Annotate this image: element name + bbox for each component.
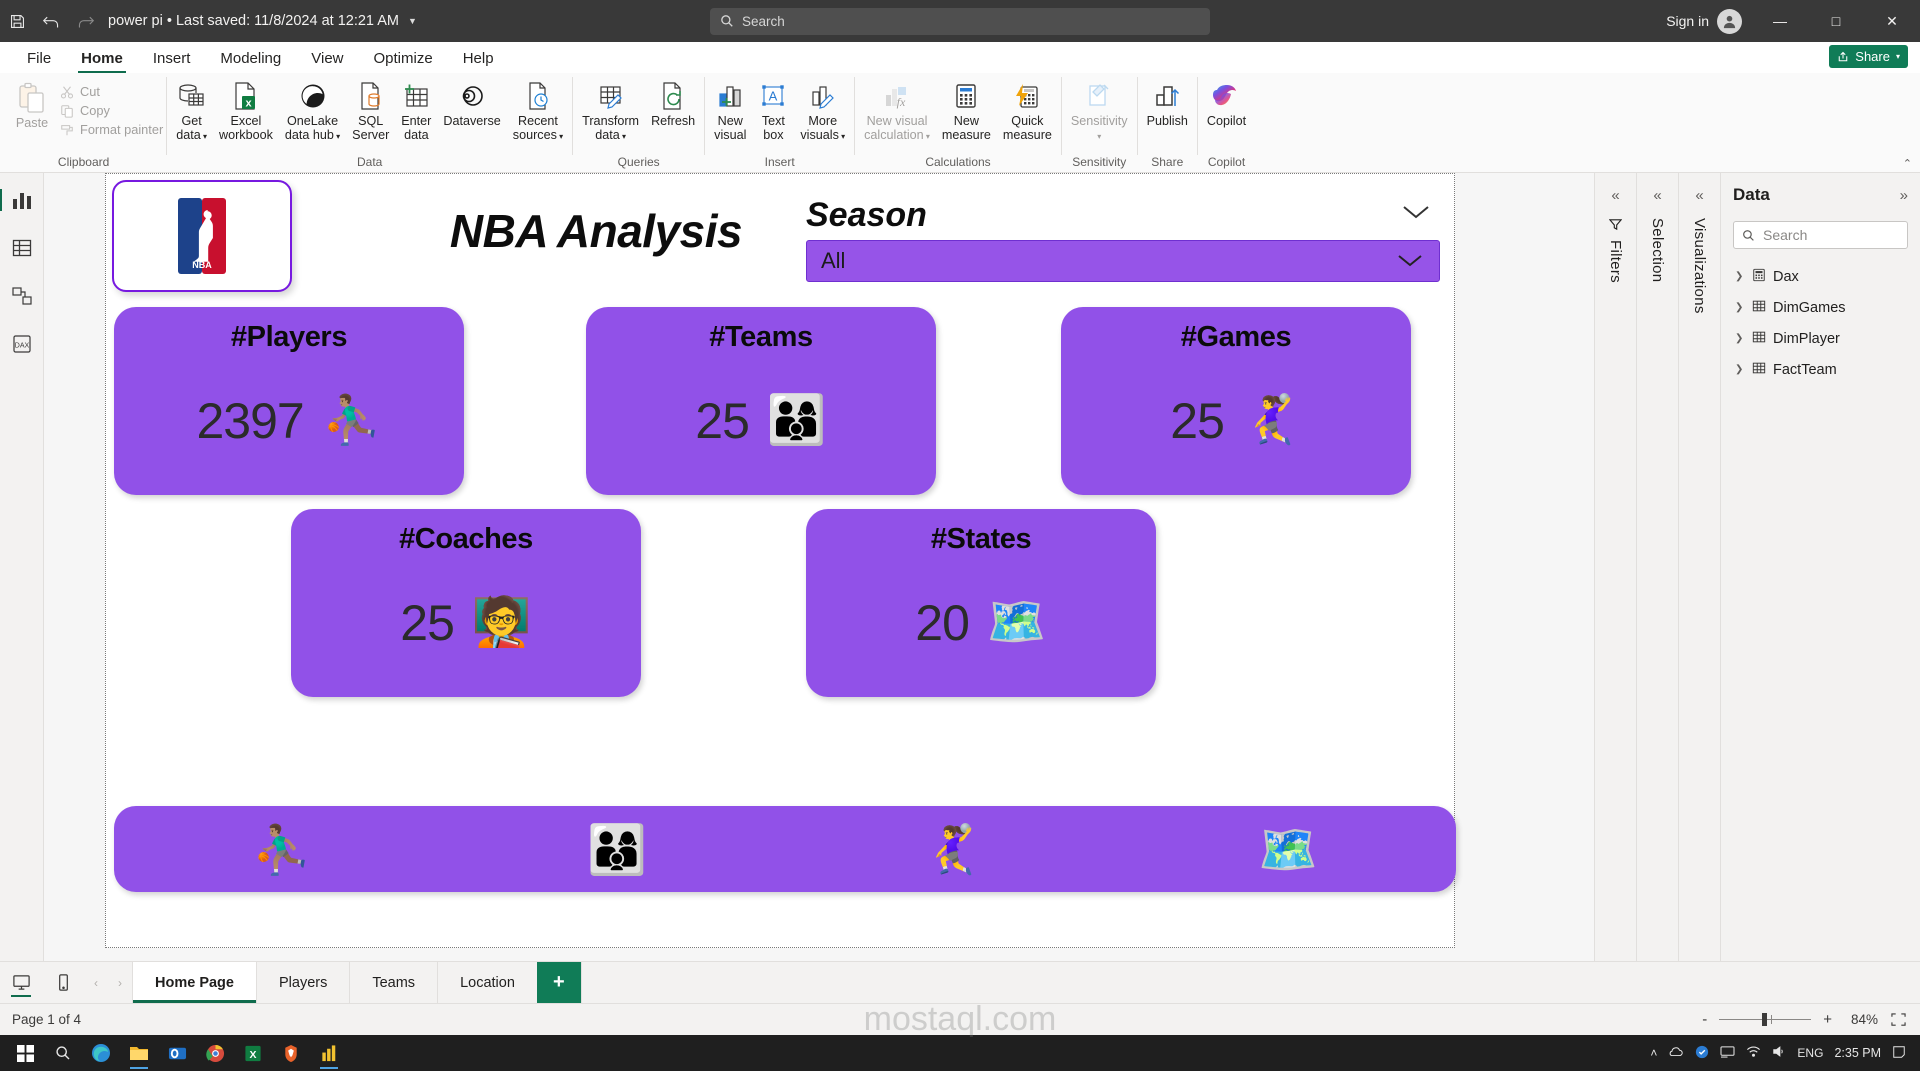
- ribbon-tab-strip: File Home Insert Modeling View Optimize …: [0, 42, 1920, 73]
- mobile-layout-icon[interactable]: [42, 962, 84, 1003]
- more-visuals-icon: [809, 79, 837, 112]
- chevron-right-icon[interactable]: ❯: [1735, 333, 1745, 344]
- excel-workbook-button[interactable]: x Excel workbook: [213, 77, 279, 144]
- sql-server-button[interactable]: SQL Server: [346, 77, 395, 144]
- publish-button[interactable]: Publish: [1141, 77, 1194, 131]
- maximize-button[interactable]: □: [1808, 0, 1864, 42]
- text-box-button[interactable]: A Text box: [752, 77, 794, 144]
- file-explorer-icon[interactable]: [120, 1035, 158, 1071]
- nba-logo-icon: NBA: [178, 198, 226, 274]
- expand-selection-icon[interactable]: «: [1653, 187, 1661, 204]
- data-table-factteam[interactable]: ❯ FactTeam: [1733, 354, 1908, 385]
- group-label-insert: Insert: [765, 154, 795, 172]
- selection-pane-collapsed[interactable]: « Selection: [1636, 173, 1678, 961]
- slicer-header-chevron-icon[interactable]: [1396, 198, 1436, 226]
- onelake-icon: [299, 79, 327, 112]
- basketball-player-emoji[interactable]: ⛹🏽‍♂️: [252, 821, 312, 878]
- group-label-share: Share: [1151, 154, 1183, 172]
- refresh-button[interactable]: Refresh: [645, 77, 701, 131]
- edge-icon[interactable]: [82, 1035, 120, 1071]
- page-tab-bar: ‹ › Home Page Players Teams Location +: [0, 961, 1920, 1003]
- kpi-value-coaches: 25: [400, 594, 454, 652]
- quick-measure-icon: [1013, 79, 1041, 112]
- model-view-icon[interactable]: [7, 281, 37, 311]
- right-pane-group: « Filters « Selection « Visualizations D…: [1594, 173, 1920, 961]
- share-button[interactable]: Share ▾: [1829, 45, 1908, 68]
- chevron-down-icon[interactable]: ▾: [839, 132, 845, 141]
- selection-pane-label: Selection: [1649, 218, 1666, 282]
- paste-button[interactable]: Paste: [4, 81, 60, 137]
- excel-icon[interactable]: X: [234, 1035, 272, 1071]
- filters-pane-collapsed[interactable]: « Filters: [1594, 173, 1636, 961]
- ribbon-separator: [1137, 77, 1138, 155]
- chevron-right-icon[interactable]: ❯: [1735, 302, 1745, 313]
- zoom-slider[interactable]: [1719, 1019, 1811, 1020]
- next-page-arrow[interactable]: ›: [108, 962, 132, 1003]
- filters-pane-label: Filters: [1607, 240, 1624, 283]
- fit-to-page-icon[interactable]: [1890, 1012, 1908, 1028]
- quick-measure-l2: measure: [1003, 128, 1052, 142]
- copy-button[interactable]: Copy: [60, 103, 163, 118]
- dataverse-icon: [458, 79, 486, 112]
- ribbon-body: Paste Cut Copy: [0, 73, 1920, 173]
- data-table-label: FactTeam: [1773, 362, 1837, 378]
- outlook-icon[interactable]: [158, 1035, 196, 1071]
- chevron-down-icon[interactable]: ▾: [334, 132, 340, 141]
- text-box-icon: A: [759, 79, 787, 112]
- ribbon-separator: [166, 77, 167, 155]
- new-visual-calc-l2: calculation: [864, 128, 924, 142]
- filter-icon: [1609, 218, 1622, 234]
- quick-measure-button[interactable]: Quick measure: [997, 77, 1058, 144]
- team-people-emoji: 👨‍👩‍👦: [767, 397, 827, 445]
- report-page-canvas[interactable]: NBA NBA Analysis Season All: [105, 173, 1455, 948]
- bottom-navigation-banner[interactable]: ⛹🏽‍♂️ 👨‍👩‍👦 🤾‍♀️ 🗺️: [114, 806, 1456, 892]
- page-tab-location[interactable]: Location: [437, 962, 537, 1003]
- ribbon-group-copilot: Copilot Copilot: [1201, 73, 1252, 172]
- copilot-icon: [1212, 79, 1242, 112]
- publish-icon: [1153, 79, 1181, 112]
- view-switcher-rail: DAX: [0, 173, 44, 961]
- prev-page-arrow[interactable]: ‹: [84, 962, 108, 1003]
- chevron-down-icon[interactable]: ▾: [201, 132, 207, 141]
- desktop-layout-icon[interactable]: [0, 962, 42, 1003]
- new-visual-l2: visual: [714, 128, 746, 142]
- refresh-l1: Refresh: [651, 114, 695, 128]
- measure-table-icon: [1752, 268, 1766, 286]
- report-canvas-area: NBA NBA Analysis Season All: [44, 173, 1594, 961]
- group-label-queries: Queries: [618, 154, 660, 172]
- zoom-level-label: 84%: [1844, 1012, 1878, 1027]
- sign-in-button[interactable]: Sign in: [1666, 9, 1752, 34]
- zoom-slider-handle[interactable]: [1762, 1013, 1767, 1026]
- get-data-button[interactable]: Get data ▾: [170, 77, 213, 145]
- recent-sources-button[interactable]: Recent sources ▾: [507, 77, 569, 145]
- copy-label: Copy: [80, 103, 110, 118]
- excel-workbook-icon: x: [232, 79, 260, 112]
- ribbon-tab-modeling[interactable]: Modeling: [205, 44, 296, 73]
- svg-text:fx: fx: [897, 95, 906, 109]
- data-table-dimplayer[interactable]: ❯ DimPlayer: [1733, 323, 1908, 354]
- kpi-value-teams: 25: [695, 392, 749, 450]
- kpi-value-states: 20: [915, 594, 969, 652]
- get-data-icon: [177, 79, 207, 112]
- window-title-bar: power pi • Last saved: 11/8/2024 at 12:2…: [0, 0, 1920, 42]
- group-label-clipboard: Clipboard: [58, 154, 109, 172]
- sensitivity-button: Sensitivity ▾: [1065, 77, 1134, 145]
- copilot-button[interactable]: Copilot: [1201, 77, 1252, 131]
- sign-in-label: Sign in: [1666, 13, 1709, 29]
- onedrive-icon[interactable]: [1668, 1046, 1684, 1061]
- ribbon-group-share: Publish Share: [1141, 73, 1194, 172]
- kpi-card-coaches[interactable]: #Coaches 25 🧑‍🏫: [291, 509, 641, 697]
- format-painter-label: Format painter: [80, 122, 163, 137]
- sql-server-icon: [357, 79, 385, 112]
- language-indicator[interactable]: ENG: [1797, 1046, 1823, 1060]
- table-view-icon[interactable]: [7, 233, 37, 263]
- share-label: Share: [1855, 49, 1890, 64]
- basketball-player-emoji: ⛹🏽‍♂️: [322, 397, 382, 445]
- chevron-down-icon: ▾: [1097, 132, 1101, 141]
- new-visual-calculation-icon: fx: [883, 79, 911, 112]
- kpi-title-teams: #Teams: [586, 307, 936, 354]
- get-data-l2: data: [176, 128, 201, 142]
- data-table-label: DimGames: [1773, 300, 1846, 316]
- season-slicer-value: All: [821, 248, 845, 274]
- expand-visualizations-icon[interactable]: «: [1695, 187, 1703, 204]
- dataverse-button[interactable]: Dataverse: [437, 77, 506, 131]
- wifi-icon[interactable]: [1746, 1045, 1761, 1061]
- new-measure-button[interactable]: New measure: [936, 77, 997, 144]
- table-icon: [1752, 361, 1766, 379]
- zoom-in-button[interactable]: +: [1823, 1011, 1832, 1028]
- transform-data-icon: [597, 79, 625, 112]
- team-people-emoji[interactable]: 👨‍👩‍👦: [587, 821, 647, 878]
- new-measure-l2: measure: [942, 128, 991, 142]
- svg-text:X: X: [250, 1049, 257, 1060]
- onelake-l1: OneLake: [287, 114, 338, 128]
- kpi-title-states: #States: [806, 509, 1156, 556]
- publish-l1: Publish: [1147, 114, 1188, 128]
- taskbar-active-underline: [130, 1067, 148, 1070]
- ribbon-separator: [854, 77, 855, 155]
- enter-data-button[interactable]: Enter data: [395, 77, 437, 144]
- chevron-down-icon: ▾: [924, 132, 930, 141]
- windows-taskbar: mostaql.com X: [0, 1035, 1920, 1071]
- dax-query-view-icon[interactable]: DAX: [7, 329, 37, 359]
- ribbon-tab-view[interactable]: View: [296, 44, 358, 73]
- paste-icon: [17, 81, 47, 114]
- coach-emoji: 🧑‍🏫: [472, 599, 532, 647]
- enter-data-l2: data: [404, 128, 429, 142]
- collapse-ribbon-button[interactable]: ⌃: [1903, 157, 1912, 170]
- excel-l2: workbook: [219, 128, 273, 142]
- chrome-icon[interactable]: [196, 1035, 234, 1071]
- ribbon-tab-insert[interactable]: Insert: [138, 44, 206, 73]
- global-search-box[interactable]: Search: [710, 8, 1210, 35]
- sensitivity-icon: [1085, 79, 1113, 112]
- ribbon-separator: [704, 77, 705, 155]
- group-label-data: Data: [357, 154, 382, 172]
- ribbon-group-insert: New visual A Text box: [708, 73, 851, 172]
- volume-icon[interactable]: [1772, 1045, 1786, 1061]
- account-avatar-icon[interactable]: [1717, 9, 1742, 34]
- data-table-dimgames[interactable]: ❯ DimGames: [1733, 292, 1908, 323]
- players-playing-emoji: 🤾‍♀️: [1242, 397, 1302, 445]
- cut-label: Cut: [80, 84, 100, 99]
- kpi-value-games: 25: [1170, 392, 1224, 450]
- chevron-right-icon[interactable]: ❯: [1735, 271, 1745, 282]
- ribbon-group-queries: Transform data ▾ Refresh Queries: [576, 73, 701, 172]
- ribbon-tab-home[interactable]: Home: [66, 44, 138, 73]
- close-button[interactable]: ✕: [1864, 0, 1920, 42]
- screen-cast-icon[interactable]: [1720, 1045, 1735, 1061]
- format-painter-button[interactable]: Format painter: [60, 122, 163, 137]
- data-table-label: DimPlayer: [1773, 331, 1840, 347]
- brave-icon[interactable]: [272, 1035, 310, 1071]
- kpi-card-states[interactable]: #States 20 🗺️: [806, 509, 1156, 697]
- visualizations-pane-label: Visualizations: [1691, 218, 1708, 314]
- chevron-down-icon[interactable]: ▾: [1896, 52, 1900, 61]
- main-area: DAX NBA NBA Analysis Season: [0, 173, 1920, 961]
- ribbon-separator: [1197, 77, 1198, 155]
- svg-text:A: A: [769, 88, 778, 103]
- system-tray: ˄ ENG 2:35 PM: [1650, 1045, 1914, 1062]
- chevron-down-icon[interactable]: ▾: [557, 132, 563, 141]
- excel-l1: Excel: [231, 114, 262, 128]
- recent-sources-icon: [524, 79, 552, 112]
- onelake-data-hub-button[interactable]: OneLake data hub ▾: [279, 77, 346, 145]
- more-visuals-l1: More: [808, 114, 837, 128]
- expand-filters-icon[interactable]: «: [1611, 187, 1619, 204]
- transform-data-button[interactable]: Transform data ▾: [576, 77, 645, 145]
- transform-l1: Transform: [582, 114, 639, 128]
- page-tab-home-page[interactable]: Home Page: [132, 962, 256, 1003]
- start-icon[interactable]: [6, 1035, 44, 1071]
- report-view-icon[interactable]: [7, 185, 37, 215]
- kpi-title-games: #Games: [1061, 307, 1411, 354]
- data-pane-search-placeholder: Search: [1763, 227, 1807, 243]
- page-count-label: Page 1 of 4: [12, 1012, 81, 1027]
- status-bar: Page 1 of 4 - + 84%: [0, 1003, 1920, 1035]
- kpi-title-coaches: #Coaches: [291, 509, 641, 556]
- data-pane-title: Data: [1733, 185, 1770, 205]
- powerbi-icon[interactable]: [310, 1035, 348, 1071]
- taskbar-clock[interactable]: 2:35 PM: [1834, 1046, 1881, 1060]
- new-measure-l1: New: [954, 114, 979, 128]
- new-measure-calculator-icon: [953, 79, 979, 112]
- global-search-placeholder: Search: [742, 14, 785, 29]
- players-playing-emoji[interactable]: 🤾‍♀️: [923, 821, 983, 878]
- new-visual-calculation-button: fx New visual calculation ▾: [858, 77, 936, 145]
- group-label-calculations: Calculations: [925, 154, 990, 172]
- ribbon-separator: [572, 77, 573, 155]
- new-visual-icon: [716, 79, 744, 112]
- group-label-sensitivity: Sensitivity: [1072, 154, 1126, 172]
- dataverse-l1: Dataverse: [443, 114, 500, 128]
- new-visual-calc-l1: New visual: [867, 114, 928, 128]
- undo-icon[interactable]: [34, 6, 68, 36]
- table-icon: [1752, 330, 1766, 348]
- ribbon-group-clipboard: Paste Cut Copy: [4, 73, 163, 172]
- cut-button[interactable]: Cut: [60, 84, 163, 99]
- save-icon[interactable]: [0, 6, 34, 36]
- sql-l1: SQL: [358, 114, 383, 128]
- tab-bar-filler: [581, 962, 1920, 1003]
- ribbon-group-calculations: fx New visual calculation ▾: [858, 73, 1058, 172]
- kpi-card-teams[interactable]: #Teams 25 👨‍👩‍👦: [586, 307, 936, 495]
- group-label-copilot: Copilot: [1208, 154, 1245, 172]
- zoom-slider-tick: [1771, 1015, 1772, 1024]
- ribbon-tab-file[interactable]: File: [12, 44, 66, 73]
- notification-icon[interactable]: [1892, 1045, 1906, 1062]
- ribbon-group-sensitivity: Sensitivity ▾ Sensitivity: [1065, 73, 1134, 172]
- kpi-card-games[interactable]: #Games 25 🤾‍♀️: [1061, 307, 1411, 495]
- map-usa-emoji: 🗺️: [987, 599, 1047, 647]
- security-icon[interactable]: [1695, 1045, 1709, 1062]
- data-table-dax[interactable]: ❯ Dax: [1733, 261, 1908, 292]
- visualizations-pane-collapsed[interactable]: « Visualizations: [1678, 173, 1720, 961]
- search-icon[interactable]: [44, 1035, 82, 1071]
- text-box-l1: Text: [762, 114, 785, 128]
- svg-text:x: x: [245, 97, 252, 109]
- svg-text:NBA: NBA: [192, 260, 212, 270]
- sensitivity-l1: Sensitivity: [1071, 114, 1128, 128]
- more-visuals-button[interactable]: More visuals ▾: [794, 77, 851, 145]
- data-pane-search-input[interactable]: Search: [1733, 221, 1908, 249]
- title-dropdown-caret[interactable]: ▼: [408, 16, 417, 26]
- zoom-out-button[interactable]: -: [1702, 1011, 1707, 1028]
- page-title[interactable]: NBA Analysis: [386, 204, 806, 258]
- text-box-l2: box: [763, 128, 783, 142]
- kpi-value-players: 2397: [197, 392, 304, 450]
- refresh-icon: [659, 79, 687, 112]
- sql-l2: Server: [352, 128, 389, 142]
- recent-l1: Recent: [518, 114, 558, 128]
- chevron-down-icon[interactable]: [1395, 248, 1425, 274]
- season-slicer-label: Season: [806, 196, 927, 235]
- svg-text:DAX: DAX: [14, 343, 29, 350]
- taskbar-active-underline: [320, 1067, 338, 1070]
- ribbon-tab-help[interactable]: Help: [448, 44, 509, 73]
- document-title: power pi • Last saved: 11/8/2024 at 12:2…: [108, 13, 399, 29]
- enter-data-icon: [402, 79, 430, 112]
- redo-icon: [68, 6, 102, 36]
- get-data-l1: Get: [181, 114, 201, 128]
- table-icon: [1752, 299, 1766, 317]
- page-tab-teams[interactable]: Teams: [349, 962, 437, 1003]
- kpi-title-players: #Players: [114, 307, 464, 354]
- kpi-card-players[interactable]: #Players 2397 ⛹🏽‍♂️: [114, 307, 464, 495]
- transform-l2: data: [595, 128, 620, 142]
- ribbon-separator: [1061, 77, 1062, 155]
- ribbon-group-data: Get data ▾ x Excel workbook: [170, 73, 569, 172]
- more-visuals-l2: visuals: [800, 128, 839, 142]
- onelake-l2: data hub: [285, 128, 334, 142]
- nba-logo-visual[interactable]: NBA: [112, 180, 292, 292]
- page-tab-players[interactable]: Players: [256, 962, 349, 1003]
- new-visual-button[interactable]: New visual: [708, 77, 752, 144]
- new-visual-l1: New: [718, 114, 743, 128]
- add-page-button[interactable]: +: [537, 962, 581, 1003]
- chevron-right-icon[interactable]: ❯: [1735, 364, 1745, 375]
- quick-measure-l1: Quick: [1011, 114, 1043, 128]
- copilot-l1: Copilot: [1207, 114, 1246, 128]
- paste-label: Paste: [16, 116, 48, 130]
- data-pane: Data » Search ❯: [1720, 173, 1920, 961]
- collapse-data-pane-icon[interactable]: »: [1900, 187, 1908, 204]
- chevron-down-icon[interactable]: ▾: [620, 132, 626, 141]
- recent-l2: sources: [513, 128, 557, 142]
- enter-data-l1: Enter: [401, 114, 431, 128]
- data-table-label: Dax: [1773, 269, 1799, 285]
- map-usa-emoji[interactable]: 🗺️: [1258, 821, 1318, 878]
- ribbon-tab-optimize[interactable]: Optimize: [359, 44, 448, 73]
- minimize-button[interactable]: —: [1752, 0, 1808, 42]
- season-slicer-dropdown[interactable]: All: [806, 240, 1440, 282]
- show-hidden-icons-icon[interactable]: ˄: [1650, 1046, 1657, 1060]
